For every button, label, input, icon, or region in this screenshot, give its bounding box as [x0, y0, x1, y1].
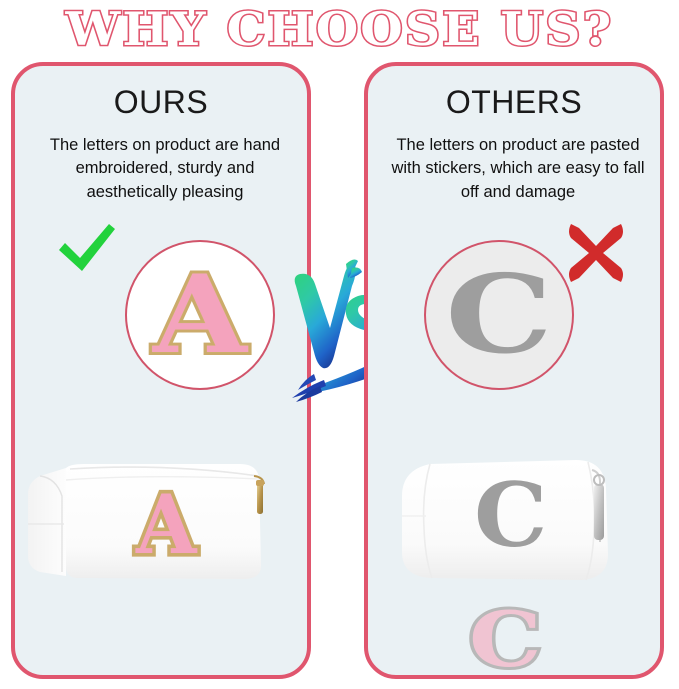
svg-text:A: A	[135, 476, 197, 572]
check-icon	[56, 222, 118, 284]
grey-sticker-letter-c: C	[445, 261, 552, 369]
product-pouch-others: C	[396, 450, 626, 595]
panel-others-description: The letters on product are pasted with s…	[382, 134, 654, 204]
page-title-bar: WHY CHOOSE US?	[0, 0, 679, 58]
chenille-letter-a-patch: A	[153, 261, 247, 369]
page-title: WHY CHOOSE US?	[66, 6, 614, 52]
cross-icon	[565, 222, 627, 284]
svg-text:C: C	[474, 464, 548, 567]
panel-ours-heading: OURS	[15, 84, 307, 121]
ours-patch-circle: A	[125, 240, 275, 390]
panel-others-heading: OTHERS	[368, 84, 660, 121]
others-patch-circle: C	[424, 240, 574, 390]
panel-ours-description: The letters on product are hand embroide…	[29, 134, 301, 204]
product-pouch-ours: A	[26, 452, 286, 587]
fallen-patch-letter: C	[469, 602, 542, 678]
fallen-chenille-patch-c: C	[459, 596, 551, 684]
